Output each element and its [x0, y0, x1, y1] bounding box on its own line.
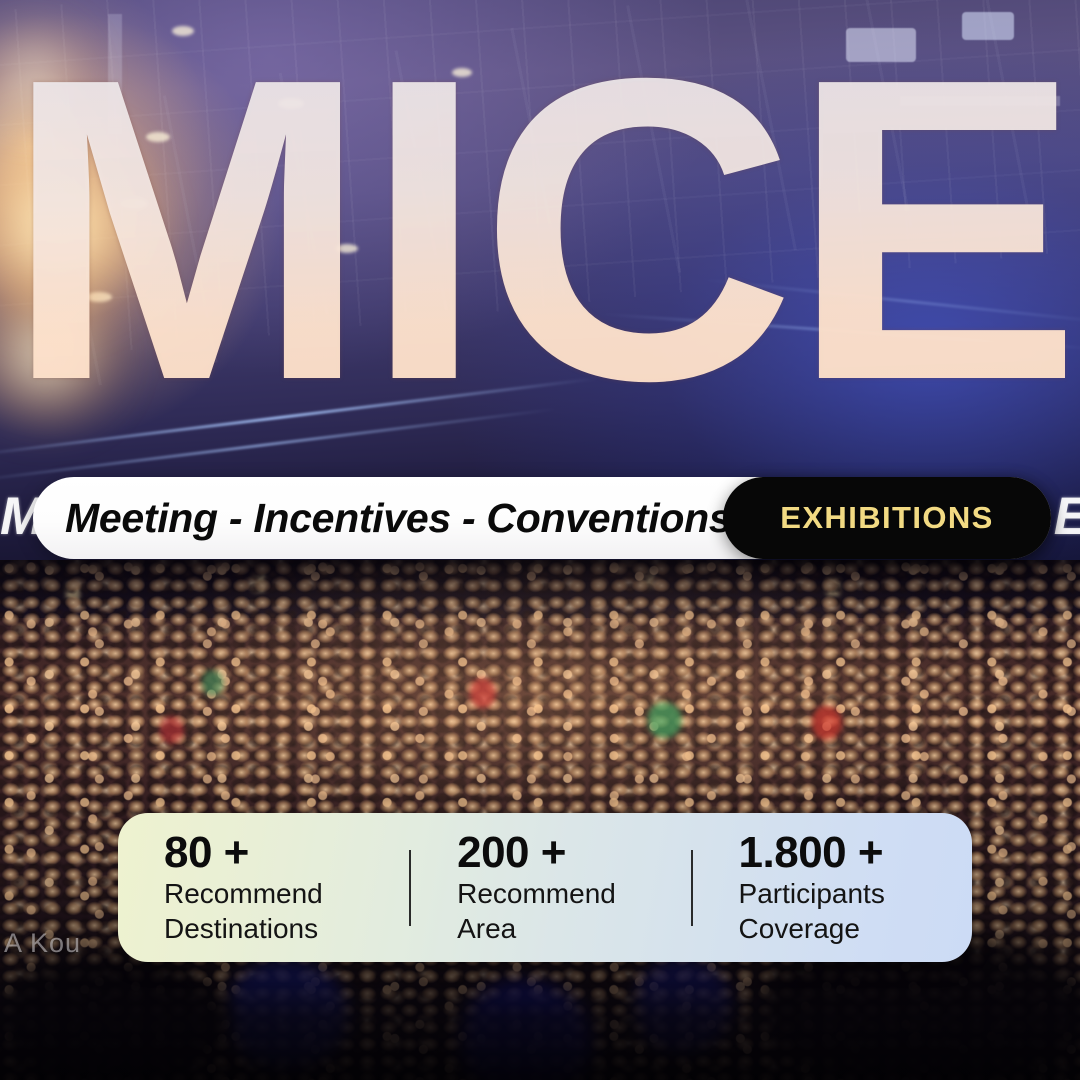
stat-label-line2: Coverage	[739, 912, 972, 945]
stats-card: 80 + Recommend Destinations 200 + Recomm…	[118, 813, 972, 962]
stat-value: 80 +	[164, 830, 409, 876]
stat-divider	[409, 850, 411, 926]
stat-value: 200 +	[457, 830, 690, 876]
stat-label-line2: Area	[457, 912, 690, 945]
exhibitions-button[interactable]: EXHIBITIONS	[723, 477, 1051, 559]
page-title: MICE	[0, 46, 1080, 416]
watermark: A Kou	[4, 928, 81, 959]
stat-label-line1: Recommend	[164, 877, 409, 910]
stat-item: 200 + Recommend Area	[411, 830, 690, 946]
exhibitions-button-label: EXHIBITIONS	[780, 500, 993, 536]
stat-divider	[691, 850, 693, 926]
stat-value: 1.800 +	[739, 830, 972, 876]
stat-item: 80 + Recommend Destinations	[118, 830, 409, 946]
stat-label-line2: Destinations	[164, 912, 409, 945]
mice-event-poster: MICE MEETING - INCENTIVE - CONVENTION - …	[0, 0, 1080, 1080]
subtitle-banner-label: Meeting - Incentives - Conventions	[65, 495, 731, 542]
stat-label-line1: Participants	[739, 877, 972, 910]
stat-label-line1: Recommend	[457, 877, 690, 910]
stat-item: 1.800 + Participants Coverage	[693, 830, 972, 946]
